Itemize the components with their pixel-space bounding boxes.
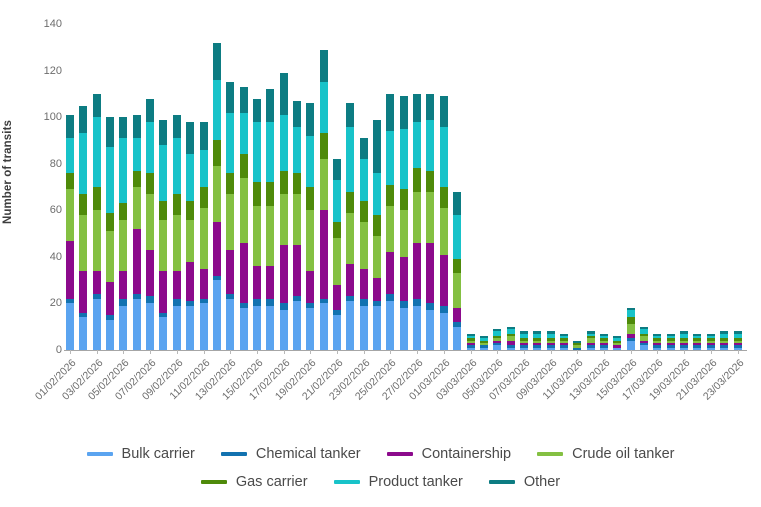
bar-segment[interactable] — [186, 154, 194, 201]
bar-segment[interactable] — [93, 117, 101, 187]
bar-segment[interactable] — [440, 96, 448, 126]
x-tick-mark — [631, 350, 632, 354]
x-tick-mark — [604, 350, 605, 354]
bar-column[interactable] — [159, 120, 167, 350]
bar-segment[interactable] — [173, 138, 181, 194]
bar-segment[interactable] — [146, 99, 154, 122]
bar-segment[interactable] — [373, 278, 381, 301]
bar-segment[interactable] — [320, 50, 328, 83]
bar-segment[interactable] — [333, 222, 341, 238]
bar-segment[interactable] — [173, 271, 181, 299]
legend-label: Other — [524, 474, 560, 490]
bar-segment[interactable] — [79, 317, 87, 350]
bar-segment[interactable] — [133, 187, 141, 229]
bar-segment[interactable] — [79, 271, 87, 313]
bar-column[interactable] — [413, 94, 421, 350]
x-tick-mark — [310, 350, 311, 354]
bar-segment[interactable] — [106, 282, 114, 315]
bar-segment[interactable] — [119, 138, 127, 203]
bar-segment[interactable] — [306, 103, 314, 136]
bar-segment[interactable] — [66, 138, 74, 173]
legend-label: Gas carrier — [236, 474, 308, 490]
bar-segment[interactable] — [413, 122, 421, 169]
bar-segment[interactable] — [346, 264, 354, 297]
bar-segment[interactable] — [400, 308, 408, 350]
bar-column[interactable] — [480, 336, 488, 350]
bar-column[interactable] — [373, 120, 381, 350]
bar-segment[interactable] — [226, 173, 234, 194]
bar-column[interactable] — [587, 331, 595, 350]
bar-column[interactable] — [693, 334, 701, 350]
bar-segment[interactable] — [173, 115, 181, 138]
bar-segment[interactable] — [293, 301, 301, 350]
bar-segment[interactable] — [386, 252, 394, 294]
bar-segment[interactable] — [386, 94, 394, 131]
bar-segment[interactable] — [426, 120, 434, 171]
bar-segment[interactable] — [373, 306, 381, 350]
x-tick-mark — [123, 350, 124, 354]
bar-segment[interactable] — [186, 220, 194, 262]
bar-segment[interactable] — [240, 243, 248, 304]
bar-segment[interactable] — [146, 303, 154, 350]
bar-segment[interactable] — [413, 168, 421, 191]
bar-segment[interactable] — [426, 171, 434, 192]
bar-column[interactable] — [533, 331, 541, 350]
bar-column[interactable] — [93, 94, 101, 350]
bar-segment[interactable] — [106, 213, 114, 232]
x-tick-mark — [577, 350, 578, 354]
bar-segment[interactable] — [213, 222, 221, 276]
bar-column[interactable] — [627, 308, 635, 350]
bar-segment[interactable] — [386, 185, 394, 206]
legend-label: Bulk carrier — [122, 446, 195, 462]
bar-column[interactable] — [266, 89, 274, 350]
bar-column[interactable] — [613, 336, 621, 350]
bar-segment[interactable] — [146, 194, 154, 250]
legend-item-chemical-tanker[interactable]: Chemical tanker — [221, 446, 361, 462]
legend-label: Product tanker — [369, 474, 463, 490]
y-tick-label: 120 — [34, 65, 62, 77]
bar-segment[interactable] — [253, 99, 261, 122]
bar-segment[interactable] — [293, 101, 301, 127]
bar-segment[interactable] — [266, 206, 274, 267]
bar-segment[interactable] — [293, 245, 301, 296]
bar-segment[interactable] — [360, 159, 368, 201]
x-tick-mark — [471, 350, 472, 354]
bar-segment[interactable] — [253, 306, 261, 350]
bar-segment[interactable] — [306, 136, 314, 187]
bar-column[interactable] — [226, 82, 234, 350]
x-tick-mark — [684, 350, 685, 354]
y-tick-label: 20 — [34, 297, 62, 309]
bar-segment[interactable] — [346, 127, 354, 192]
bar-segment[interactable] — [79, 215, 87, 271]
bar-column[interactable] — [253, 99, 261, 350]
bar-column[interactable] — [547, 331, 555, 350]
bar-segment[interactable] — [119, 117, 127, 138]
x-tick-mark — [390, 350, 391, 354]
bar-segment[interactable] — [280, 194, 288, 245]
legend-item-other[interactable]: Other — [489, 474, 560, 490]
legend-item-product-tanker[interactable]: Product tanker — [334, 474, 463, 490]
legend-item-containership[interactable]: Containership — [387, 446, 511, 462]
bar-segment[interactable] — [280, 73, 288, 115]
bar-segment[interactable] — [159, 145, 167, 201]
bar-segment[interactable] — [186, 201, 194, 220]
bar-segment[interactable] — [146, 173, 154, 194]
x-tick-mark — [337, 350, 338, 354]
bar-segment[interactable] — [200, 150, 208, 187]
bar-segment[interactable] — [93, 187, 101, 210]
bar-segment[interactable] — [133, 138, 141, 171]
bar-segment[interactable] — [333, 315, 341, 350]
x-tick-mark — [364, 350, 365, 354]
bar-segment[interactable] — [360, 269, 368, 299]
bar-segment[interactable] — [200, 122, 208, 150]
bar-segment[interactable] — [400, 96, 408, 129]
bar-segment[interactable] — [173, 306, 181, 350]
bar-column[interactable] — [507, 327, 515, 350]
bar-segment[interactable] — [106, 320, 114, 350]
bar-segment[interactable] — [213, 43, 221, 80]
bar-segment[interactable] — [360, 306, 368, 350]
bar-segment[interactable] — [240, 308, 248, 350]
bar-segment[interactable] — [400, 257, 408, 301]
bar-segment[interactable] — [333, 238, 341, 285]
bar-segment[interactable] — [280, 115, 288, 171]
bar-segment[interactable] — [253, 206, 261, 267]
bar-segment[interactable] — [240, 87, 248, 113]
bar-column[interactable] — [240, 87, 248, 350]
bar-segment[interactable] — [360, 299, 368, 306]
bar-segment[interactable] — [413, 94, 421, 122]
y-tick-label: 0 — [34, 344, 62, 356]
bar-segment[interactable] — [66, 241, 74, 299]
bar-segment[interactable] — [333, 180, 341, 222]
stacked-bar-chart: Number of transits 020406080100120140 01… — [0, 0, 761, 501]
bar-segment[interactable] — [400, 301, 408, 308]
bar-segment[interactable] — [413, 306, 421, 350]
bar-segment[interactable] — [226, 113, 234, 174]
bar-segment[interactable] — [400, 189, 408, 210]
bar-segment[interactable] — [146, 296, 154, 303]
bar-segment[interactable] — [386, 131, 394, 185]
bar-segment[interactable] — [453, 273, 461, 308]
bar-segment[interactable] — [93, 94, 101, 117]
bar-segment[interactable] — [159, 317, 167, 350]
bar-segment[interactable] — [79, 133, 87, 194]
bar-segment[interactable] — [440, 187, 448, 208]
bar-segment[interactable] — [386, 206, 394, 253]
bar-column[interactable] — [707, 334, 715, 350]
bar-segment[interactable] — [213, 140, 221, 166]
bar-segment[interactable] — [293, 194, 301, 245]
bar-column[interactable] — [453, 192, 461, 350]
bar-segment[interactable] — [346, 192, 354, 213]
bar-segment[interactable] — [373, 173, 381, 215]
bar-segment[interactable] — [266, 266, 274, 299]
bar-segment[interactable] — [119, 220, 127, 271]
bar-segment[interactable] — [426, 192, 434, 243]
bar-segment[interactable] — [426, 310, 434, 350]
bar-segment[interactable] — [253, 122, 261, 183]
bar-segment[interactable] — [159, 120, 167, 146]
bar-segment[interactable] — [320, 159, 328, 210]
bar-column[interactable] — [560, 334, 568, 350]
bar-segment[interactable] — [373, 236, 381, 278]
bar-column[interactable] — [386, 94, 394, 350]
plot-area — [64, 24, 745, 350]
legend-swatch-icon — [334, 480, 360, 484]
bar-segment[interactable] — [200, 187, 208, 208]
legend-item-gas-carrier[interactable]: Gas carrier — [201, 474, 308, 490]
bar-segment[interactable] — [453, 308, 461, 322]
bar-segment[interactable] — [213, 280, 221, 350]
bar-segment[interactable] — [293, 127, 301, 174]
x-tick-mark — [204, 350, 205, 354]
x-tick-mark — [738, 350, 739, 354]
bar-column[interactable] — [720, 331, 728, 350]
bar-segment[interactable] — [106, 117, 114, 147]
bar-segment[interactable] — [253, 266, 261, 299]
bar-segment[interactable] — [333, 159, 341, 180]
bar-segment[interactable] — [240, 113, 248, 155]
y-tick-label: 40 — [34, 251, 62, 263]
legend-swatch-icon — [201, 480, 227, 484]
bar-segment[interactable] — [66, 189, 74, 240]
bar-segment[interactable] — [280, 245, 288, 303]
bar-segment[interactable] — [306, 271, 314, 304]
x-tick-mark — [257, 350, 258, 354]
legend-label: Chemical tanker — [256, 446, 361, 462]
bar-segment[interactable] — [373, 120, 381, 174]
chart-legend: Bulk carrierChemical tankerContainership… — [0, 440, 761, 496]
bar-column[interactable] — [146, 99, 154, 350]
bar-segment[interactable] — [266, 89, 274, 122]
bar-segment[interactable] — [240, 154, 248, 177]
bar-column[interactable] — [653, 334, 661, 350]
bar-segment[interactable] — [66, 115, 74, 138]
bar-segment[interactable] — [280, 171, 288, 194]
bar-segment[interactable] — [453, 192, 461, 215]
bar-segment[interactable] — [453, 259, 461, 273]
bar-segment[interactable] — [426, 94, 434, 120]
bar-segment[interactable] — [173, 215, 181, 271]
bar-column[interactable] — [667, 334, 675, 350]
bar-segment[interactable] — [266, 122, 274, 183]
bar-segment[interactable] — [186, 262, 194, 302]
bar-column[interactable] — [79, 106, 87, 350]
bar-segment[interactable] — [386, 294, 394, 301]
bar-segment[interactable] — [93, 299, 101, 350]
bar-segment[interactable] — [440, 313, 448, 350]
bar-segment[interactable] — [320, 210, 328, 298]
bar-segment[interactable] — [400, 129, 408, 190]
bar-segment[interactable] — [306, 187, 314, 210]
bar-column[interactable] — [213, 43, 221, 350]
bar-segment[interactable] — [133, 171, 141, 187]
bar-segment[interactable] — [453, 327, 461, 350]
bar-segment[interactable] — [346, 301, 354, 350]
bar-segment[interactable] — [627, 310, 635, 317]
bar-segment[interactable] — [440, 255, 448, 306]
legend-item-crude-oil-tanker[interactable]: Crude oil tanker — [537, 446, 674, 462]
bar-segment[interactable] — [133, 115, 141, 138]
bar-column[interactable] — [493, 329, 501, 350]
bar-segment[interactable] — [280, 310, 288, 350]
bar-segment[interactable] — [320, 133, 328, 159]
x-tick-mark — [657, 350, 658, 354]
bar-column[interactable] — [426, 94, 434, 350]
bar-segment[interactable] — [360, 201, 368, 222]
bar-segment[interactable] — [186, 122, 194, 155]
bar-segment[interactable] — [360, 138, 368, 159]
bar-column[interactable] — [173, 115, 181, 350]
bar-segment[interactable] — [106, 147, 114, 212]
bar-column[interactable] — [600, 334, 608, 350]
bar-segment[interactable] — [119, 306, 127, 350]
bar-column[interactable] — [467, 334, 475, 350]
x-tick-mark — [70, 350, 71, 354]
bar-segment[interactable] — [226, 250, 234, 294]
bar-segment[interactable] — [280, 303, 288, 310]
bar-segment[interactable] — [453, 215, 461, 259]
bar-column[interactable] — [360, 138, 368, 350]
bar-segment[interactable] — [133, 299, 141, 350]
bar-segment[interactable] — [200, 269, 208, 299]
bar-segment[interactable] — [306, 308, 314, 350]
bar-segment[interactable] — [373, 215, 381, 236]
bar-segment[interactable] — [93, 210, 101, 271]
bar-segment[interactable] — [66, 303, 74, 350]
bar-segment[interactable] — [320, 82, 328, 133]
x-tick-mark — [177, 350, 178, 354]
bar-column[interactable] — [333, 159, 341, 350]
bar-segment[interactable] — [200, 208, 208, 269]
legend-swatch-icon — [221, 452, 247, 456]
bar-segment[interactable] — [293, 173, 301, 194]
bar-segment[interactable] — [360, 222, 368, 269]
legend-label: Containership — [422, 446, 511, 462]
bar-segment[interactable] — [106, 231, 114, 282]
bar-column[interactable] — [186, 122, 194, 350]
bar-segment[interactable] — [426, 243, 434, 304]
bar-segment[interactable] — [333, 285, 341, 311]
bar-segment[interactable] — [627, 317, 635, 324]
bar-column[interactable] — [293, 101, 301, 350]
bar-segment[interactable] — [346, 103, 354, 126]
bar-segment[interactable] — [186, 306, 194, 350]
x-tick-mark — [284, 350, 285, 354]
x-tick-mark — [551, 350, 552, 354]
bar-segment[interactable] — [173, 299, 181, 306]
bar-column[interactable] — [306, 103, 314, 350]
legend-swatch-icon — [537, 452, 563, 456]
x-tick-mark — [230, 350, 231, 354]
bar-column[interactable] — [680, 331, 688, 350]
bar-segment[interactable] — [133, 229, 141, 294]
bar-segment[interactable] — [226, 299, 234, 350]
x-axis-line — [64, 350, 747, 351]
bar-segment[interactable] — [159, 201, 167, 220]
legend-label: Crude oil tanker — [572, 446, 674, 462]
bar-column[interactable] — [106, 117, 114, 350]
bar-column[interactable] — [119, 117, 127, 350]
bar-column[interactable] — [400, 96, 408, 350]
bar-segment[interactable] — [66, 173, 74, 189]
bar-segment[interactable] — [440, 208, 448, 255]
bar-segment[interactable] — [400, 210, 408, 257]
bar-segment[interactable] — [346, 213, 354, 264]
bar-segment[interactable] — [226, 82, 234, 112]
bar-column[interactable] — [520, 331, 528, 350]
bar-segment[interactable] — [413, 192, 421, 243]
bar-segment[interactable] — [79, 106, 87, 134]
bar-column[interactable] — [573, 341, 581, 350]
bar-column[interactable] — [734, 331, 742, 350]
bar-segment[interactable] — [253, 299, 261, 306]
x-tick-mark — [97, 350, 98, 354]
bar-segment[interactable] — [226, 194, 234, 250]
y-tick-label: 100 — [34, 111, 62, 123]
bar-segment[interactable] — [213, 80, 221, 141]
bar-segment[interactable] — [119, 271, 127, 299]
bar-segment[interactable] — [213, 166, 221, 222]
bar-segment[interactable] — [146, 122, 154, 173]
bar-segment[interactable] — [627, 324, 635, 333]
bar-column[interactable] — [280, 73, 288, 350]
bar-segment[interactable] — [119, 203, 127, 219]
bar-segment[interactable] — [159, 271, 167, 313]
x-tick-mark — [524, 350, 525, 354]
legend-swatch-icon — [87, 452, 113, 456]
bar-segment[interactable] — [627, 341, 635, 350]
bar-segment[interactable] — [200, 303, 208, 350]
bar-column[interactable] — [66, 115, 74, 350]
bar-column[interactable] — [640, 327, 648, 350]
bar-segment[interactable] — [386, 301, 394, 350]
bar-column[interactable] — [346, 103, 354, 350]
bar-segment[interactable] — [146, 250, 154, 297]
bar-column[interactable] — [200, 122, 208, 350]
bar-segment[interactable] — [320, 303, 328, 350]
bar-segment[interactable] — [173, 194, 181, 215]
bar-segment[interactable] — [266, 306, 274, 350]
bar-column[interactable] — [440, 96, 448, 350]
legend-item-bulk-carrier[interactable]: Bulk carrier — [87, 446, 195, 462]
bar-segment[interactable] — [440, 127, 448, 188]
x-tick-mark — [150, 350, 151, 354]
bar-segment[interactable] — [240, 178, 248, 243]
bar-segment[interactable] — [79, 194, 87, 215]
bar-segment[interactable] — [266, 182, 274, 205]
bar-segment[interactable] — [253, 182, 261, 205]
bar-segment[interactable] — [159, 220, 167, 271]
bar-segment[interactable] — [413, 243, 421, 299]
bar-segment[interactable] — [306, 210, 314, 271]
bar-segment[interactable] — [440, 306, 448, 313]
bar-column[interactable] — [320, 50, 328, 350]
bar-segment[interactable] — [413, 299, 421, 306]
y-tick-label: 60 — [34, 204, 62, 216]
bar-segment[interactable] — [93, 271, 101, 294]
bar-segment[interactable] — [119, 299, 127, 306]
bar-segment[interactable] — [426, 303, 434, 310]
bar-segment[interactable] — [266, 299, 274, 306]
bar-column[interactable] — [133, 115, 141, 350]
x-tick-mark — [444, 350, 445, 354]
legend-row: Bulk carrierChemical tankerContainership… — [0, 440, 761, 468]
